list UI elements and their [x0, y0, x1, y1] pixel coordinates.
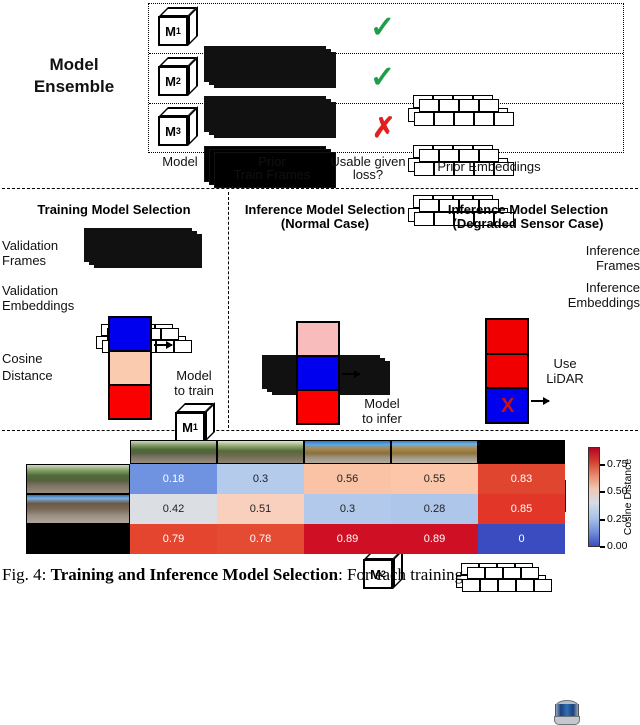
divider-bottom: [2, 430, 638, 431]
training-selection-arrow: [154, 344, 172, 346]
model-cube-m1: M1: [158, 7, 198, 47]
colorbar-tick: [600, 491, 605, 493]
heatmap-cell: 0.85: [478, 494, 565, 524]
model-cube-label-m2: M2: [158, 66, 188, 96]
lidar-fallback-arrow: [531, 400, 549, 402]
model-to-train-caption: Model to train: [160, 368, 228, 398]
reject-x-icon: X: [501, 396, 514, 416]
heatmap-cell: 0.28: [391, 494, 478, 524]
use-lidar-caption: Use LiDAR: [532, 356, 598, 386]
model-ensemble-label-line2: Ensemble: [8, 76, 140, 98]
validation-frames-stack: [84, 228, 214, 274]
selected-model-label-infer: M2: [363, 559, 393, 589]
heatmap-row-thumb-2: [26, 524, 130, 554]
cosine-segment-2: [487, 355, 527, 390]
heatmap-col-thumb-1: [217, 440, 304, 464]
ensemble-header-model: Model: [140, 155, 220, 168]
inference-selection-arrow: [342, 373, 360, 375]
heatmap-cell: 0.83: [478, 464, 565, 494]
panel-title-inference-degraded: Inference Model Selection (Degraded Sens…: [418, 203, 638, 231]
model-cube-m2: M2: [158, 57, 198, 97]
heatmap-cell: 0.51: [217, 494, 304, 524]
heatmap-row-thumb-1: [26, 494, 130, 524]
divider-top: [2, 188, 638, 189]
heatmap-col-thumb-3: [391, 440, 478, 464]
check-icon: ✓: [370, 13, 395, 43]
heatmap-cell: 0: [478, 524, 565, 554]
check-icon: ✓: [370, 63, 395, 93]
heatmap-cell: 0.3: [304, 494, 391, 524]
model-cube-label-m1: M1: [158, 16, 188, 46]
heatmap-cell: 0.78: [217, 524, 304, 554]
ensemble-header-usable-given-loss: Usable given loss?: [318, 155, 418, 181]
colorbar-tick: [600, 546, 605, 548]
inference-cosine-stack-normal: [296, 321, 340, 425]
heatmap-cell: 0.3: [217, 464, 304, 494]
heatmap-cell: 0.89: [391, 524, 478, 554]
model-cube-m3: M3: [158, 107, 198, 147]
ensemble-header-prior-embeddings: Prior Embeddings: [404, 160, 574, 173]
cosine-segment-1: [110, 318, 150, 352]
cosine-distance-label: Cosine Distance: [2, 350, 92, 384]
panel-title-inference-normal: Inference Model Selection (Normal Case): [232, 203, 418, 231]
model-ensemble-label-line1: Model: [8, 54, 140, 76]
heatmap-cell: 0.56: [304, 464, 391, 494]
colorbar-tick: [600, 519, 605, 521]
training-cosine-stack: [108, 316, 152, 420]
validation-frames-label: Validation Frames: [2, 238, 84, 268]
selected-model-cube-train: M1: [175, 403, 215, 443]
caption-rest: : For each training: [338, 565, 463, 584]
heatmap-cell: 0.79: [130, 524, 217, 554]
heatmap-col-thumb-4: [478, 440, 565, 464]
cosine-segment-3: [110, 386, 150, 418]
selected-model-label-train: M1: [175, 412, 205, 442]
lidar-icon: [553, 700, 579, 724]
caption-bold: Training and Inference Model Selection: [51, 565, 338, 584]
cosine-segment-1: [298, 323, 338, 357]
model-to-infer-caption: Model to infer: [348, 396, 416, 426]
heatmap-cell: 0.89: [304, 524, 391, 554]
colorbar-label-0: 0.00: [607, 540, 627, 552]
cosine-segment-3: X: [487, 389, 527, 422]
ensemble-row-3: M3 ✗: [148, 103, 624, 153]
heatmap-col-thumb-0: [130, 440, 217, 464]
ensemble-header-prior-train-frames: Prior Train Frames: [222, 155, 322, 181]
heatmap-cell: 0.42: [130, 494, 217, 524]
ensemble-row-1: M1 ✓: [148, 3, 624, 53]
divider-vertical: [228, 192, 229, 428]
cosine-distance-heatmap: 0.18 0.3 0.56 0.55 0.83 0.42 0.51 0.3 0.…: [0, 438, 640, 558]
inference-cosine-stack-degraded: X: [485, 318, 529, 424]
figure-caption: Fig. 4: Training and Inference Model Sel…: [2, 565, 640, 585]
model-ensemble-label: Model Ensemble: [8, 54, 140, 98]
cosine-segment-1: [487, 320, 527, 355]
cosine-segment-3: [298, 391, 338, 423]
colorbar-tick: [600, 464, 605, 466]
panel-title-training: Training Model Selection: [6, 203, 222, 217]
heatmap-cell: 0.18: [130, 464, 217, 494]
inference-frames-label: Inference Frames: [566, 243, 640, 273]
ensemble-row-2: M2 ✓: [148, 53, 624, 103]
heatmap-cell: 0.55: [391, 464, 478, 494]
caption-prefix: Fig. 4:: [2, 565, 46, 584]
colorbar: [588, 447, 600, 547]
cross-icon: ✗: [372, 114, 395, 142]
inference-embeddings-label: Inference Embeddings: [562, 280, 640, 310]
cosine-segment-2: [110, 352, 150, 386]
heatmap-col-thumb-2: [304, 440, 391, 464]
cosine-segment-2: [298, 357, 338, 391]
heatmap-row-thumb-0: [26, 464, 130, 494]
validation-embeddings-label: Validation Embeddings: [2, 283, 94, 313]
model-cube-label-m3: M3: [158, 116, 188, 146]
colorbar-title: Cosine Distance: [622, 459, 634, 535]
